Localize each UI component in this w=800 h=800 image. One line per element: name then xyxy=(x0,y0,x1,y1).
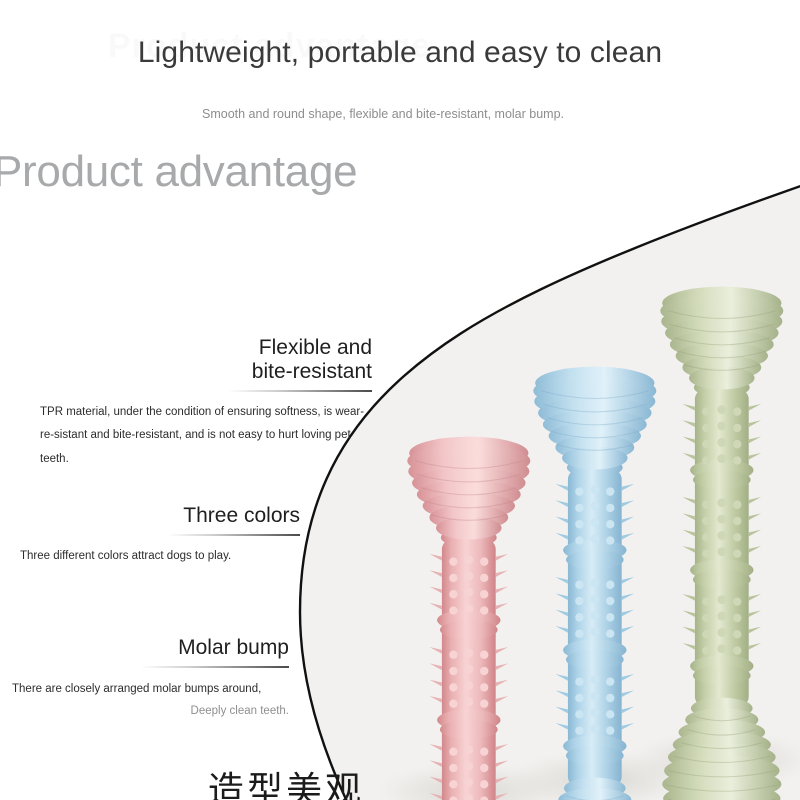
bottom-cjk-heading: 造型美观 xyxy=(208,770,364,800)
feature-body: TPR material, under the condition of ens… xyxy=(40,401,372,472)
feature-block-molar-bump: Molar bump There are closely arranged mo… xyxy=(12,636,289,722)
feature-underline xyxy=(228,390,372,392)
feature-underline xyxy=(140,666,289,668)
page-headline: Lightweight, portable and easy to clean xyxy=(0,36,800,70)
feature-block-flexible-bite-resistant: Flexible and bite-resistant TPR material… xyxy=(40,336,372,471)
feature-body-primary: There are closely arranged molar bumps a… xyxy=(12,683,261,695)
feature-body: Three different colors attract dogs to p… xyxy=(20,547,300,565)
page-subtitle: Smooth and round shape, flexible and bit… xyxy=(202,105,580,123)
feature-body-secondary: Deeply clean teeth. xyxy=(12,700,289,722)
product-advantage-text: Product advantage xyxy=(0,150,423,193)
feature-title: Flexible and bite-resistant xyxy=(40,336,372,384)
product-advantage-page: Product advantage Lightweight, portable … xyxy=(0,0,800,800)
feature-title: Molar bump xyxy=(12,636,289,660)
feature-underline xyxy=(168,534,300,536)
product-advantage-heading: Product advantage xyxy=(0,150,423,193)
feature-title: Three colors xyxy=(20,504,300,528)
feature-block-three-colors: Three colors Three different colors attr… xyxy=(20,504,300,565)
feature-body: There are closely arranged molar bumps a… xyxy=(12,678,289,723)
